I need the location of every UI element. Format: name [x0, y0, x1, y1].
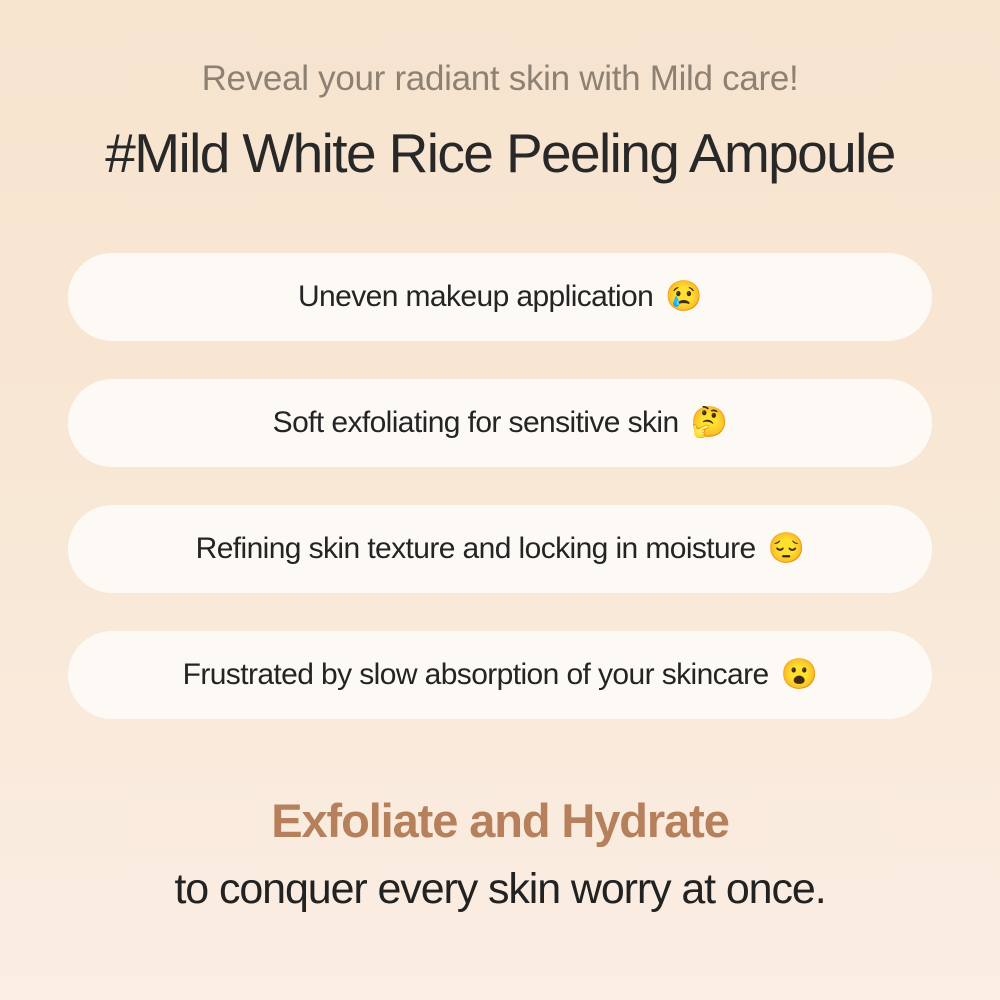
benefit-pill-3-label: Refining skin texture and locking in moi…: [196, 534, 756, 564]
benefit-pill-2: Soft exfoliating for sensitive skin 🤔: [68, 379, 932, 467]
face-with-open-mouth-emoji: 😮: [781, 660, 818, 690]
thinking-face-emoji: 🤔: [691, 408, 728, 438]
benefit-pill-2-content: Soft exfoliating for sensitive skin 🤔: [273, 408, 728, 438]
benefit-pill-1-content: Uneven makeup application 😢: [298, 282, 702, 312]
promo-banner: Reveal your radiant skin with Mild care!…: [0, 0, 1000, 1000]
header-section: Reveal your radiant skin with Mild care!…: [0, 0, 1000, 185]
benefit-pill-4: Frustrated by slow absorption of your sk…: [68, 631, 932, 719]
footer-section: Exfoliate and Hydrate to conquer every s…: [0, 793, 1000, 915]
benefit-pill-1-label: Uneven makeup application: [298, 282, 653, 312]
product-headline: #Mild White Rice Peeling Ampoule: [105, 122, 894, 185]
benefit-pill-4-label: Frustrated by slow absorption of your sk…: [183, 660, 769, 690]
accent-headline: Exfoliate and Hydrate: [271, 793, 728, 849]
benefit-pill-list: Uneven makeup application 😢 Soft exfolia…: [68, 253, 932, 719]
closing-statement: to conquer every skin worry at once.: [174, 864, 825, 916]
benefit-pill-4-content: Frustrated by slow absorption of your sk…: [183, 660, 818, 690]
benefit-pill-3: Refining skin texture and locking in moi…: [68, 505, 932, 593]
benefit-pill-3-content: Refining skin texture and locking in moi…: [196, 534, 805, 564]
benefit-pill-1: Uneven makeup application 😢: [68, 253, 932, 341]
benefit-pill-2-label: Soft exfoliating for sensitive skin: [273, 408, 679, 438]
eyebrow-tagline: Reveal your radiant skin with Mild care!: [202, 58, 799, 100]
pensive-face-emoji: 😔: [768, 534, 805, 564]
crying-face-emoji: 😢: [665, 282, 702, 312]
